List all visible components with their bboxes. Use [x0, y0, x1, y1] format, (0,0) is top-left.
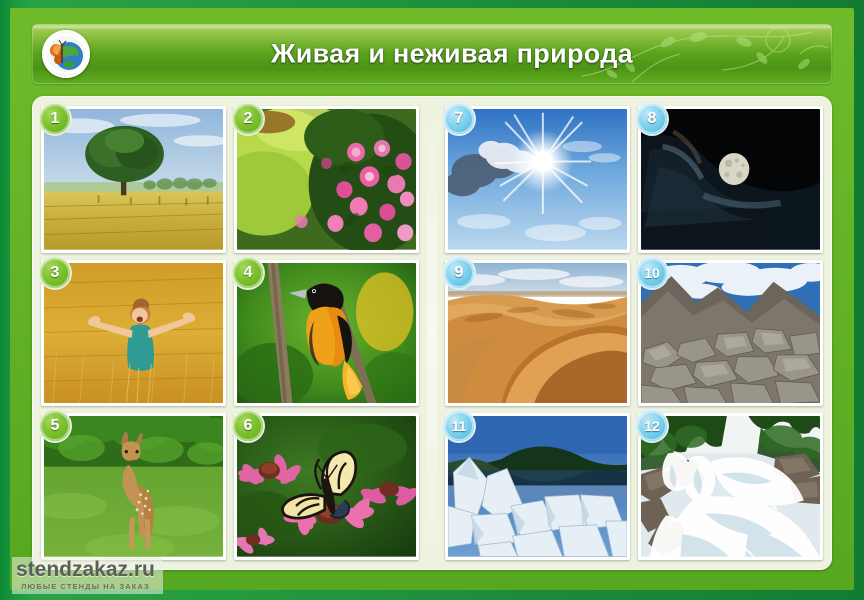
swallowtail-butterfly-on-flower-photo [237, 416, 416, 557]
picture-card[interactable]: 7 [445, 106, 630, 253]
group-divider [427, 106, 437, 560]
waterfall-rapids-photo [641, 416, 820, 557]
group-nonliving-nature: 7 [445, 106, 823, 560]
picture-card[interactable]: 3 [41, 260, 226, 407]
pictures-board: 1 [32, 96, 832, 570]
group-living-nature: 1 [41, 106, 419, 560]
number-badge: 4 [233, 258, 263, 288]
poster-background: Живая и неживая природа [0, 0, 864, 600]
number-badge: 2 [233, 104, 263, 134]
picture-card[interactable]: 11 [445, 413, 630, 560]
picture-card[interactable]: 1 [41, 106, 226, 253]
tree-in-field-photo [44, 109, 223, 250]
picture-card[interactable]: 9 [445, 260, 630, 407]
picture-card[interactable]: 4 [234, 260, 419, 407]
desert-sand-dunes-photo [448, 263, 627, 404]
sun-and-clouds-photo [448, 109, 627, 250]
number-badge: 7 [444, 104, 474, 134]
picture-card[interactable]: 6 [234, 413, 419, 560]
number-badge: 10 [637, 258, 667, 288]
header-bar: Живая и неживая природа [32, 24, 832, 84]
picture-card[interactable]: 2 [234, 106, 419, 253]
ice-floes-on-lake-photo [448, 416, 627, 557]
fawn-deer-on-grass-photo [44, 416, 223, 557]
number-badge: 1 [40, 104, 70, 134]
poster-inner-frame: Живая и неживая природа [10, 8, 854, 590]
picture-card[interactable]: 12 [638, 413, 823, 560]
page-title: Живая и неживая природа [32, 39, 832, 70]
picture-card[interactable]: 8 [638, 106, 823, 253]
picture-card[interactable]: 5 [41, 413, 226, 560]
moon-in-night-sky-photo [641, 109, 820, 250]
rocks-and-mountains-photo [641, 263, 820, 404]
number-badge: 3 [40, 258, 70, 288]
pink-roses-garden-photo [237, 109, 416, 250]
number-badge: 9 [444, 258, 474, 288]
number-badge: 8 [637, 104, 667, 134]
picture-card[interactable]: 10 [638, 260, 823, 407]
girl-in-wheat-field-photo [44, 263, 223, 404]
oriole-bird-on-branch-photo [237, 263, 416, 404]
